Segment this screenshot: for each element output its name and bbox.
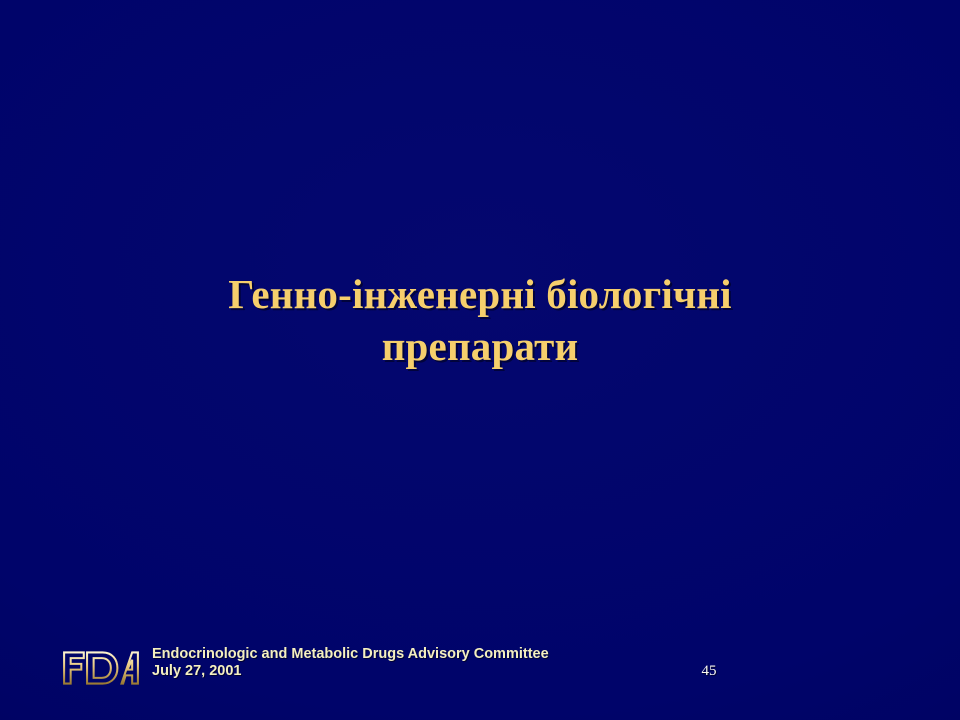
slide-title-line-1: Генно-інженерні біологічні <box>150 268 810 320</box>
slide-title: Генно-інженерні біологічні препарати <box>150 268 810 372</box>
page-number: 45 <box>694 663 724 680</box>
slide-footer: Endocrinologic and Metabolic Drugs Advis… <box>60 644 549 688</box>
footer-text-block: Endocrinologic and Metabolic Drugs Advis… <box>152 646 549 680</box>
slide-title-line-2: препарати <box>150 320 810 372</box>
presentation-slide: Генно-інженерні біологічні препарати <box>0 0 960 720</box>
footer-date-label: July 27, 2001 <box>152 663 549 680</box>
fda-logo-icon <box>60 648 142 688</box>
footer-committee-label: Endocrinologic and Metabolic Drugs Advis… <box>152 646 549 663</box>
